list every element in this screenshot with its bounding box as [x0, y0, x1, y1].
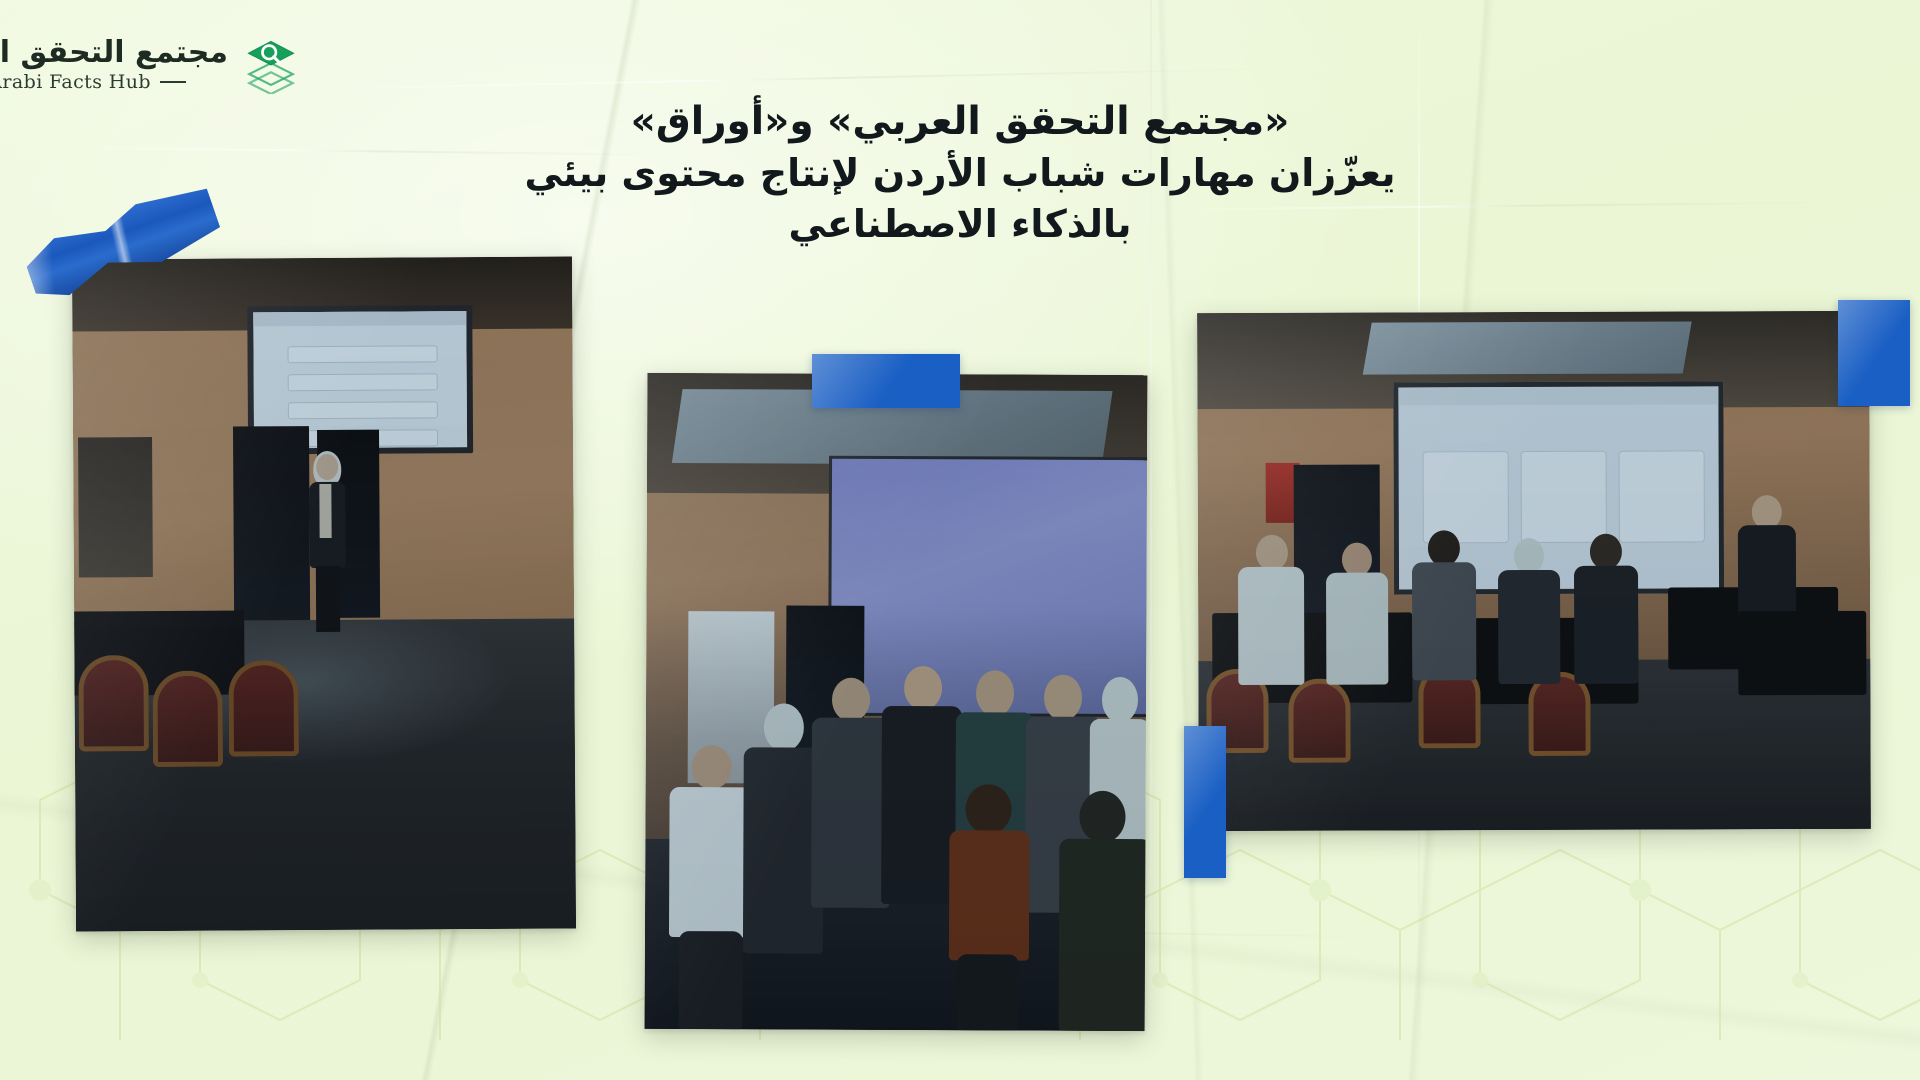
- brand-logo[interactable]: مجتمع التحقق العربي Arabi Facts Hub: [44, 36, 300, 94]
- facilitator-figure: [1738, 495, 1796, 627]
- headline-line-2: يعزّزان مهارات شباب الأردن لإنتاج محتوى …: [470, 148, 1450, 199]
- poster-canvas: مجتمع التحقق العربي Arabi Facts Hub «مجت…: [0, 0, 1920, 1080]
- attendee-figure-foreground: [931, 784, 1044, 1030]
- logo-latin-row: Arabi Facts Hub: [0, 71, 186, 93]
- headline-line-3: بالذكاء الاصطناعي: [470, 199, 1450, 250]
- logo-rule-left: [160, 81, 186, 83]
- headline-line-1: «مجتمع التحقق العربي» و«أوراق»: [470, 96, 1450, 148]
- headline: «مجتمع التحقق العربي» و«أوراق» يعزّزان م…: [470, 96, 1450, 250]
- speaker-figure: [301, 454, 354, 632]
- participant-figure: [1238, 535, 1305, 685]
- participant-figure: [1498, 538, 1561, 684]
- participant-figure: [1412, 530, 1477, 680]
- arabi-facts-hub-logo-icon: [242, 36, 300, 94]
- logo-arabic-wordmark: مجتمع التحقق العربي: [0, 37, 228, 69]
- participant-figure: [1326, 543, 1388, 685]
- photo-speaker-presentation[interactable]: [72, 256, 576, 931]
- photo-workshop-tables[interactable]: [1197, 311, 1871, 831]
- paper-crease: [300, 68, 1280, 91]
- photo-group-discussion[interactable]: [645, 373, 1148, 1031]
- participant-figure: [1574, 534, 1639, 684]
- logo-latin-wordmark: Arabi Facts Hub: [0, 71, 151, 93]
- awraq-banner: [78, 437, 153, 577]
- blue-rectangle-bottom: [1184, 726, 1226, 878]
- attendee-figure-foreground: [1049, 791, 1148, 1031]
- blue-rectangle-top: [812, 354, 960, 408]
- blue-rectangle-right: [1838, 300, 1910, 406]
- attendee-figure: [811, 678, 890, 908]
